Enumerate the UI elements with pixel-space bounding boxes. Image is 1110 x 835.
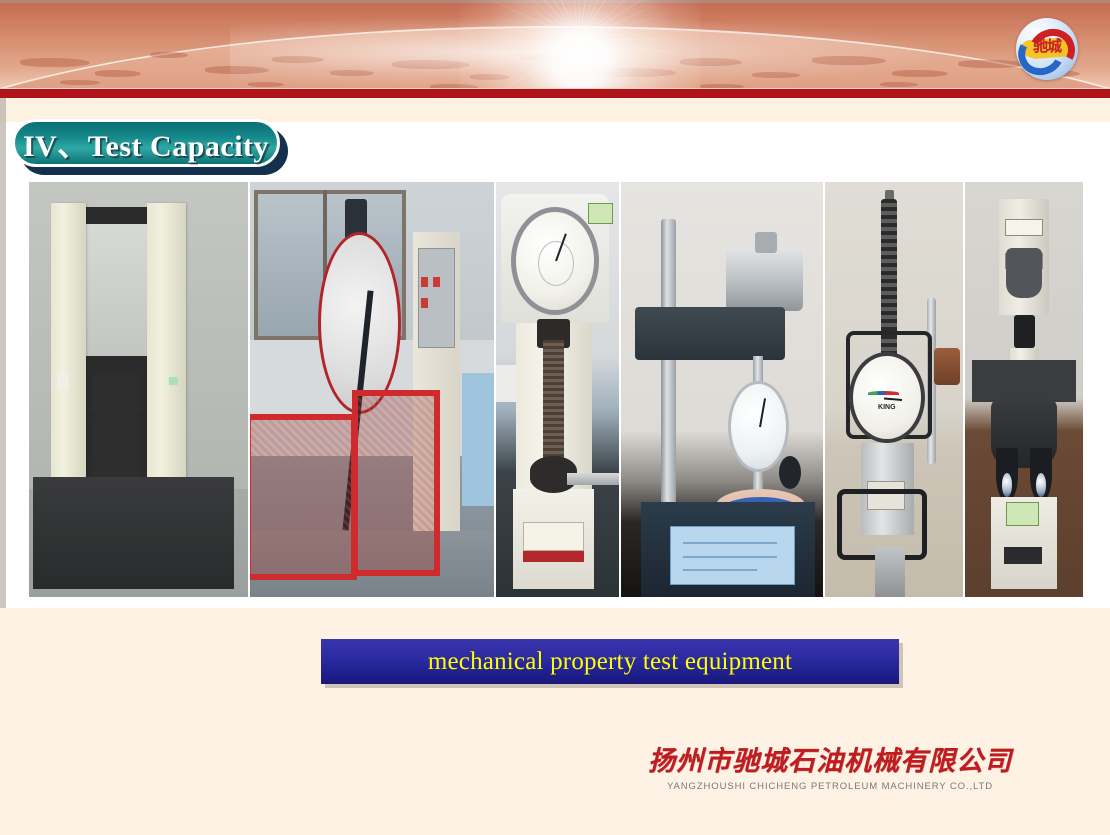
photo4-label-line-2 [683, 556, 777, 558]
logo-chinese-text: 驰城 [1016, 39, 1078, 54]
photo2-blue-unit [462, 373, 494, 506]
photo5-anvil-foot [875, 547, 905, 597]
photo4-dial-needle [759, 398, 766, 427]
photo6-base-plate [1004, 547, 1042, 564]
header-red-bar [0, 88, 1110, 98]
photo4-label-line-3 [683, 569, 757, 571]
footer-company-chinese: 扬州市驰城石油机械有限公司 [620, 748, 1040, 776]
photo1-socket [57, 373, 68, 390]
company-logo: 驰城 [1016, 18, 1078, 80]
photo2-safety-guard-left [250, 414, 358, 580]
photo-shore-durometer [621, 182, 824, 597]
photo1-green-sticker [169, 377, 178, 385]
caption-text: mechanical property test equipment [428, 648, 792, 676]
photo1-base [33, 477, 234, 589]
photo3-dial-gauge [511, 207, 599, 315]
photo-universal-testing-machine [29, 182, 248, 597]
section-title-badge: IV、Test Capacity [8, 119, 288, 177]
photo-portable-brinell-tester: KING [825, 182, 963, 597]
photo1-column-right [147, 203, 186, 510]
photo5-color-arc [868, 391, 899, 395]
photo3-handwheel-rod [567, 473, 619, 485]
photo1-column-left [51, 203, 86, 510]
photo6-stage [972, 360, 1076, 402]
photo-metallurgical-microscope [965, 182, 1083, 597]
photo6-display-window-1 [1005, 219, 1043, 236]
photo2-button-1 [421, 277, 428, 287]
photo5-brand-text: KING [853, 404, 921, 411]
header-banner: 驰城 [0, 0, 1110, 98]
photo6-neck [1014, 315, 1035, 348]
slide-root: 驰城 IV、Test Capacity [0, 0, 1110, 835]
photo1-crosshead [92, 373, 140, 415]
photo-strip: KING [29, 182, 1083, 597]
photo5-load-dial: KING [849, 352, 925, 443]
section-title-text: IV、Test Capacity [23, 121, 269, 165]
photo2-safety-guard-right [352, 390, 440, 577]
photo4-weight [726, 248, 803, 310]
photo4-top-knob [755, 232, 777, 253]
photo-rockwell-hardness-tester [496, 182, 619, 597]
photo5-dial-needle [884, 398, 902, 402]
footer-company-english: YANGZHOUSHI CHICHENG PETROLEUM MACHINERY… [620, 781, 1040, 792]
photo6-calibration-sticker [1006, 502, 1039, 527]
section-title-pill: IV、Test Capacity [12, 119, 280, 167]
photo2-button-3 [421, 298, 428, 308]
photo3-nameplate-stripe [523, 551, 584, 562]
photo3-nameplate [523, 522, 584, 551]
sun-icon [460, 0, 700, 98]
photo4-arm [635, 307, 785, 361]
photo4-lock-knob [779, 456, 801, 489]
caption-box: mechanical property test equipment [321, 639, 899, 684]
photo3-elevating-screw [543, 340, 564, 465]
photo3-dial-inner [538, 241, 574, 286]
photo5-wood-grip [934, 348, 960, 385]
footer-branding: 扬州市驰城石油机械有限公司 YANGZHOUSHI CHICHENG PETRO… [620, 748, 1040, 792]
photo1-test-space [84, 224, 152, 357]
photo4-vertical-post [661, 219, 675, 510]
photo4-label-line-1 [683, 542, 777, 544]
photo3-calibration-sticker [588, 203, 613, 224]
photo6-control-plate [1006, 248, 1041, 298]
photo4-blue-nameplate [670, 526, 796, 584]
photo-impact-testing-machine [250, 182, 495, 597]
photo2-button-2 [433, 277, 440, 287]
globe-logo-icon: 驰城 [1016, 18, 1078, 80]
photo4-dial-indicator [728, 381, 789, 472]
photo1-grip-upper [92, 414, 140, 464]
